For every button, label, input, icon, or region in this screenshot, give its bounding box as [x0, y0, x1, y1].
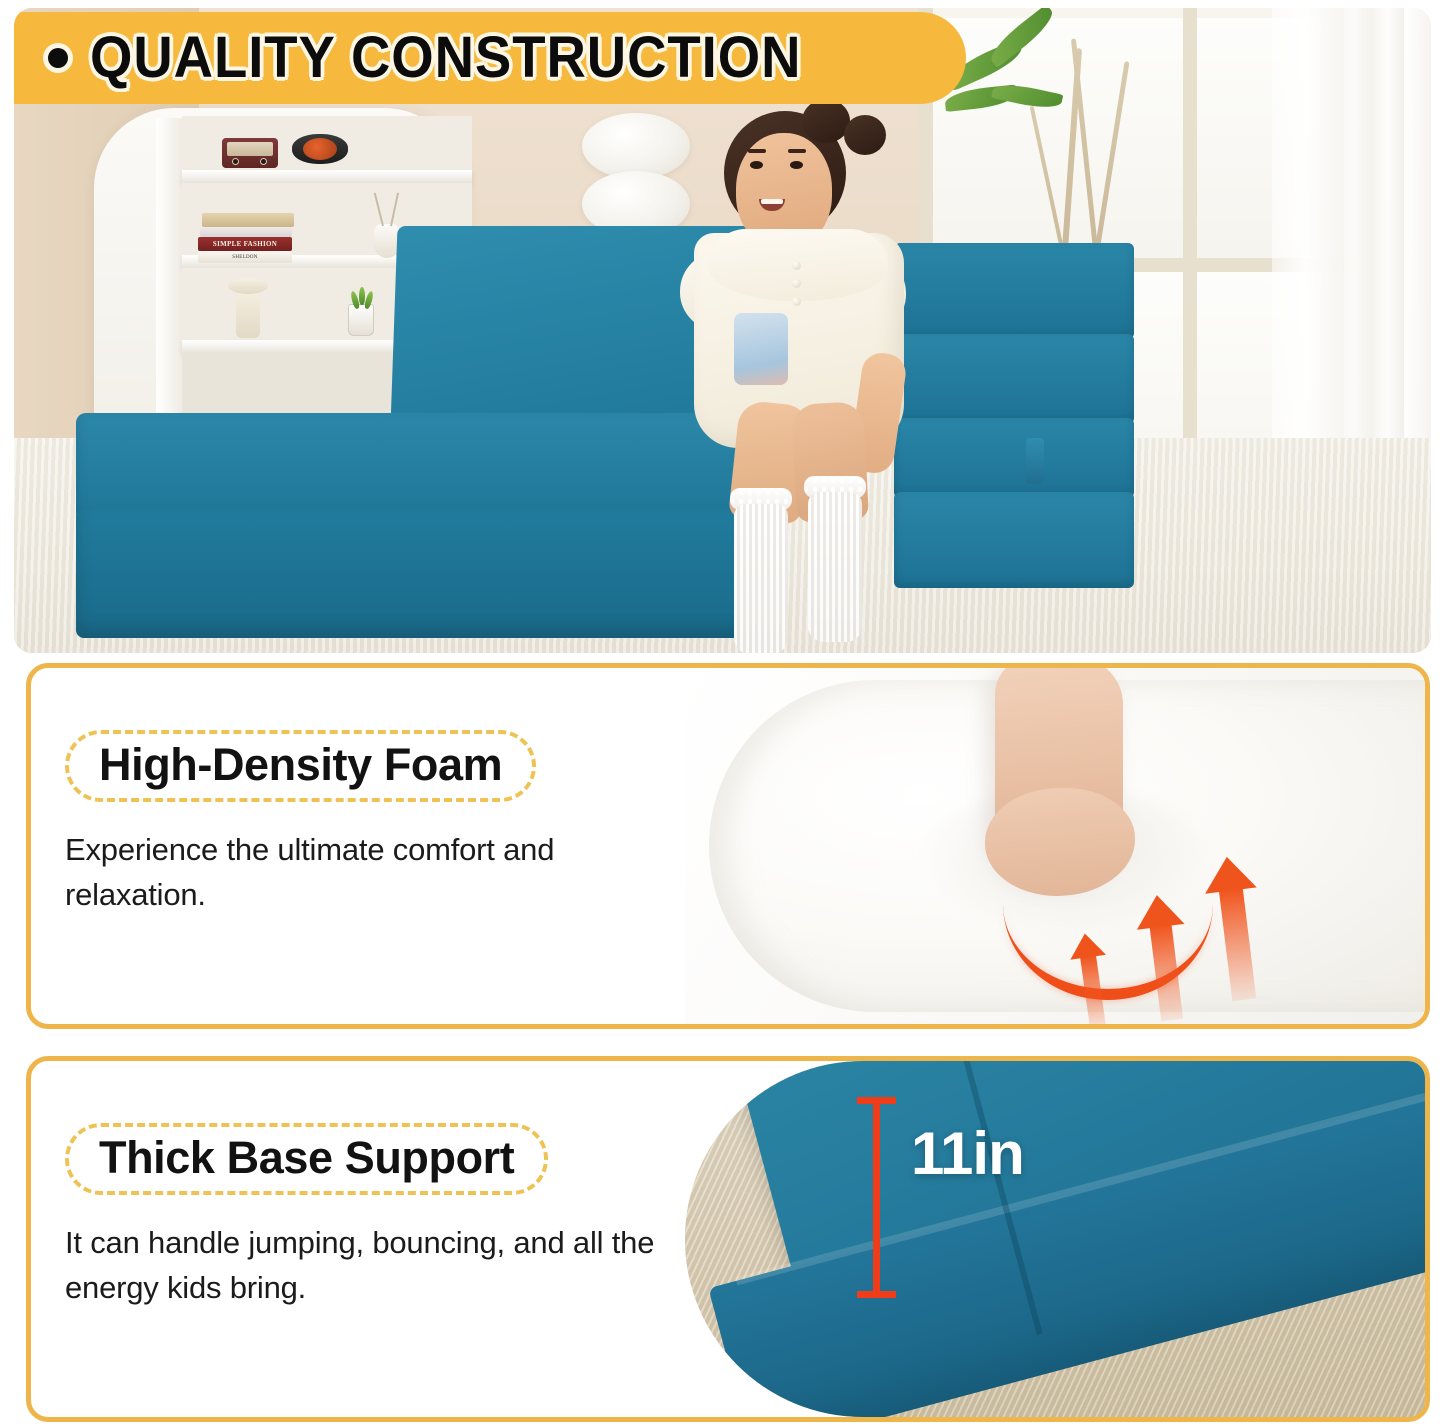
hero-image: SIMPLE FASHION SHELDON — [14, 8, 1431, 653]
hero-scene: SIMPLE FASHION SHELDON — [14, 8, 1431, 653]
book-simple-fashion: SIMPLE FASHION — [198, 237, 292, 251]
base-title-pill: Thick Base Support — [65, 1123, 548, 1195]
infographic-page: SIMPLE FASHION SHELDON — [0, 0, 1445, 1428]
foam-title: High-Density Foam — [99, 741, 502, 788]
sofa-base — [76, 508, 756, 638]
foam-description: Experience the ultimate comfort and rela… — [65, 828, 675, 918]
sofa-seat — [76, 413, 756, 523]
base-thickness-image: 11in — [685, 1061, 1425, 1417]
bullet-dot-icon — [48, 48, 68, 68]
feature-panel-high-density-foam: High-Density Foam Experience the ultimat… — [26, 663, 1430, 1029]
book — [202, 213, 294, 227]
dimension-cap-bottom — [857, 1291, 896, 1298]
hair-bun — [802, 99, 850, 143]
vintage-radio — [222, 138, 278, 168]
sock — [734, 504, 788, 653]
banner-title: QUALITY CONSTRUCTION — [90, 29, 801, 87]
carry-handle — [1026, 438, 1044, 484]
height-measurement-label: 11in — [911, 1119, 1024, 1188]
foam-press-image — [685, 668, 1425, 1024]
base-text-block: Thick Base Support It can handle jumping… — [65, 1123, 705, 1311]
candle-holder — [228, 278, 268, 294]
hair-bun — [844, 115, 886, 155]
base-image-mask — [685, 1061, 1425, 1417]
sock — [808, 492, 862, 642]
dimension-line — [873, 1099, 880, 1295]
book — [200, 227, 292, 237]
foam-text-block: High-Density Foam Experience the ultimat… — [65, 730, 705, 918]
base-description: It can handle jumping, bouncing, and all… — [65, 1221, 675, 1311]
succulent-plant — [348, 304, 374, 336]
speaker — [292, 134, 348, 164]
header-banner: QUALITY CONSTRUCTION — [14, 12, 966, 104]
dress-applique — [734, 313, 788, 385]
base-title: Thick Base Support — [99, 1134, 514, 1181]
book-sheldon: SHELDON — [198, 251, 292, 263]
foam-title-pill: High-Density Foam — [65, 730, 536, 802]
feature-panel-thick-base-support: 11in Thick Base Support It can handle ju… — [26, 1056, 1430, 1422]
